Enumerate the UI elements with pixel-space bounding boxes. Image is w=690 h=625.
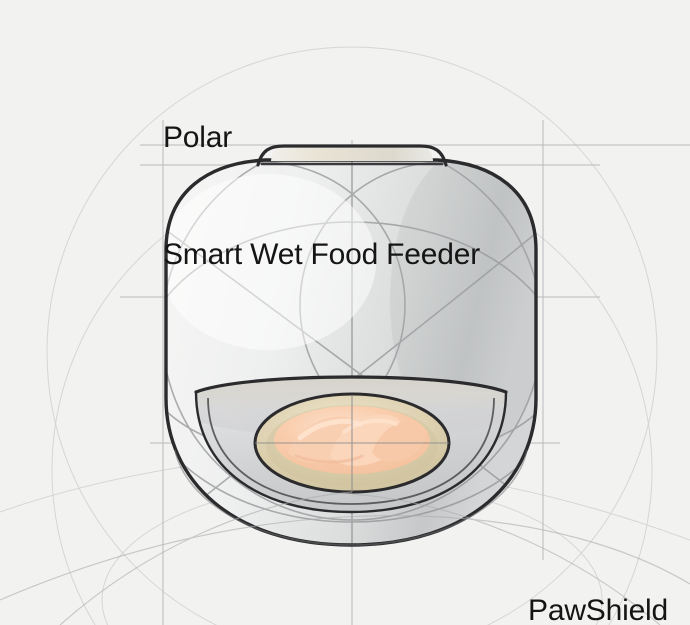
- brand-caption-line1: PawShield: [528, 591, 668, 625]
- product-title-line2: Smart Wet Food Feeder: [163, 235, 480, 274]
- food-bowl: [255, 394, 449, 492]
- sketch-canvas: Polar Smart Wet Food Feeder PawShield De…: [0, 0, 690, 625]
- page-title: Polar Smart Wet Food Feeder: [163, 40, 480, 352]
- product-title-line1: Polar: [163, 118, 480, 157]
- brand-caption: PawShield Design: [528, 513, 668, 625]
